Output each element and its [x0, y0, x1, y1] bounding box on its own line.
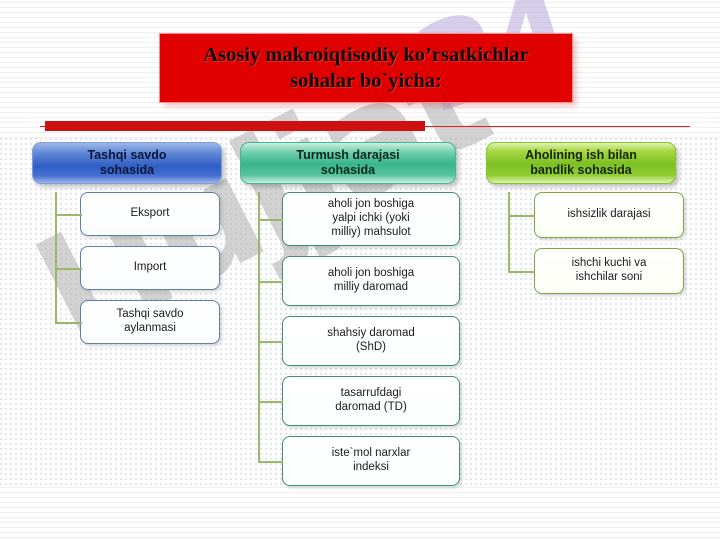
leaf-label: ishchi kuchi va ishchilar soni: [572, 257, 647, 285]
list-item: aholi jon boshiga yalpi ichki (yoki mill…: [240, 192, 462, 246]
column-bandlik: Aholining ish bilan bandlik sohasida ish…: [486, 142, 686, 294]
leaf-box-tashqi-savdo-aylanmasi[interactable]: Tashqi savdo aylanmasi: [80, 300, 220, 344]
connector-stub: [55, 214, 82, 216]
list-item: Tashqi savdo aylanmasi: [32, 300, 222, 344]
column-header-label: Aholining ish bilan bandlik sohasida: [519, 148, 643, 178]
leaf-label: shahsiy daromad (ShD): [327, 327, 415, 355]
list-item: Eksport: [32, 192, 222, 236]
title-banner: Asosiy makroiqtisodiy ko’rsatkichlar soh…: [160, 34, 572, 102]
leaf-box-ishsizlik-darajasi[interactable]: ishsizlik darajasi: [534, 192, 684, 238]
leaf-label: aholi jon boshiga milliy daromad: [328, 267, 414, 295]
leaf-box-yalpi-ichki-mahsulot[interactable]: aholi jon boshiga yalpi ichki (yoki mill…: [282, 192, 460, 246]
list-item: ishchi kuchi va ishchilar soni: [486, 248, 686, 294]
connector-stub: [508, 271, 535, 273]
list-item: iste`mol narxlar indeksi: [240, 436, 462, 486]
leaf-label: Eksport: [131, 207, 170, 221]
connector-stub: [258, 281, 283, 283]
column-turmush-darajasi: Turmush darajasi sohasida aholi jon bosh…: [240, 142, 462, 486]
connector-stub: [258, 401, 283, 403]
slide-title: Asosiy makroiqtisodiy ko’rsatkichlar soh…: [203, 42, 528, 94]
leaf-box-milliy-daromad[interactable]: aholi jon boshiga milliy daromad: [282, 256, 460, 306]
connector-stub: [258, 219, 283, 221]
connector-stub: [258, 341, 283, 343]
connector-stub: [55, 268, 82, 270]
leaf-label: Tashqi savdo aylanmasi: [116, 308, 183, 336]
leaf-label: aholi jon boshiga yalpi ichki (yoki mill…: [328, 198, 414, 239]
column-header-turmush-darajasi[interactable]: Turmush darajasi sohasida: [240, 142, 456, 184]
column-header-label: Turmush darajasi sohasida: [290, 148, 405, 178]
list-item: aholi jon boshiga milliy daromad: [240, 256, 462, 306]
column-header-tashqi-savdo[interactable]: Tashqi savdo sohasida: [32, 142, 222, 184]
leaf-box-shahsiy-daromad[interactable]: shahsiy daromad (ShD): [282, 316, 460, 366]
connector-tree-0: Eksport Import Tashqi savdo aylanmasi: [32, 192, 222, 344]
leaf-box-istemol-narxlar-indeksi[interactable]: iste`mol narxlar indeksi: [282, 436, 460, 486]
list-item: Import: [32, 246, 222, 290]
leaf-box-eksport[interactable]: Eksport: [80, 192, 220, 236]
leaf-label: tasarrufdagi daromad (TD): [335, 387, 407, 415]
leaf-label: ishsizlik darajasi: [567, 208, 650, 222]
leaf-label: iste`mol narxlar indeksi: [332, 447, 411, 475]
list-item: shahsiy daromad (ShD): [240, 316, 462, 366]
connector-stub: [55, 322, 82, 324]
list-item: tasarrufdagi daromad (TD): [240, 376, 462, 426]
connector-tree-1: aholi jon boshiga yalpi ichki (yoki mill…: [240, 192, 462, 486]
slide-canvas: Hujjat 24 Asosiy makroiqtisodiy ko’rsatk…: [0, 0, 720, 540]
leaf-box-ishchi-kuchi[interactable]: ishchi kuchi va ishchilar soni: [534, 248, 684, 294]
column-header-bandlik[interactable]: Aholining ish bilan bandlik sohasida: [486, 142, 676, 184]
leaf-box-tasarrufdagi-daromad[interactable]: tasarrufdagi daromad (TD): [282, 376, 460, 426]
divider-line-thick: [45, 121, 425, 131]
column-header-label: Tashqi savdo sohasida: [82, 148, 173, 178]
connector-stub: [258, 461, 283, 463]
column-tashqi-savdo: Tashqi savdo sohasida Eksport Import Tas…: [32, 142, 222, 344]
leaf-box-import[interactable]: Import: [80, 246, 220, 290]
list-item: ishsizlik darajasi: [486, 192, 686, 238]
connector-stub: [508, 215, 535, 217]
connector-tree-2: ishsizlik darajasi ishchi kuchi va ishch…: [486, 192, 686, 294]
leaf-label: Import: [134, 261, 167, 275]
